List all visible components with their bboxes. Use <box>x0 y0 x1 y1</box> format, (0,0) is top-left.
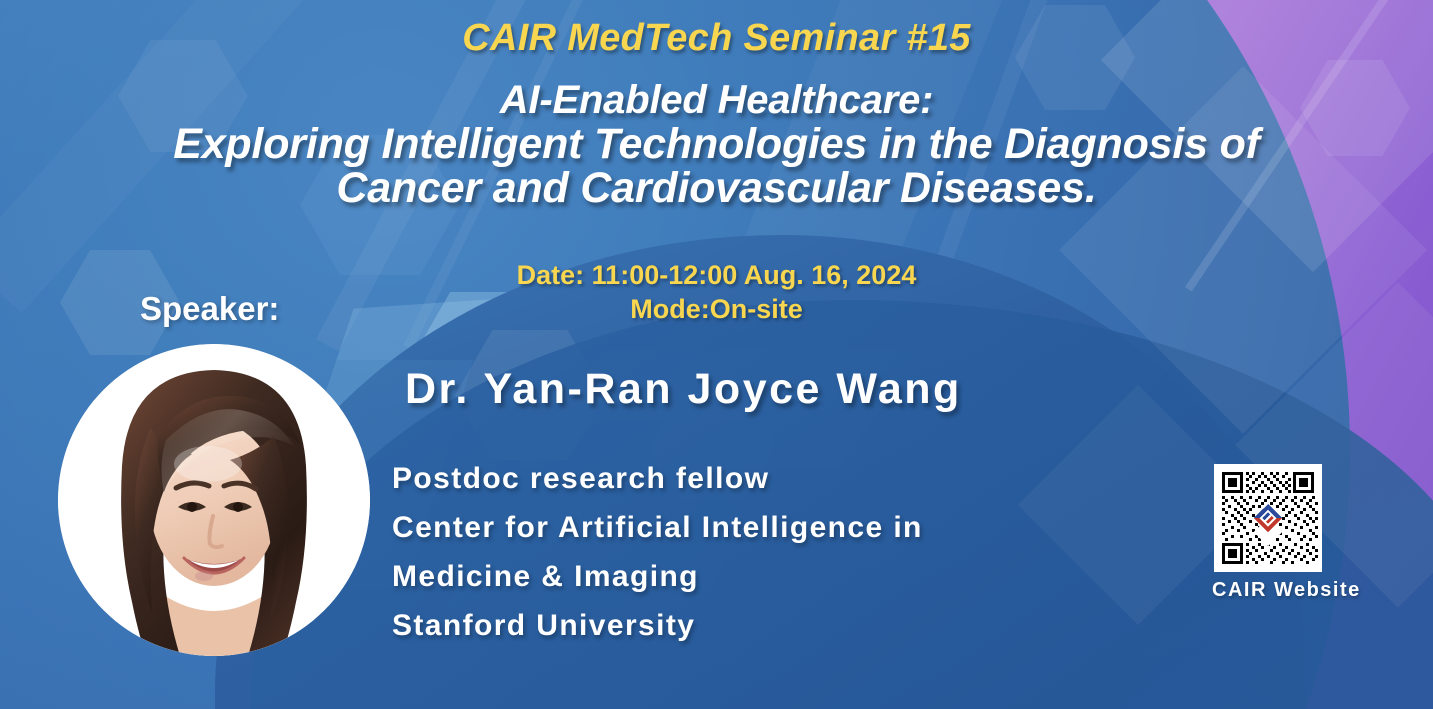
qr-code-caption: CAIR Website <box>1212 579 1324 602</box>
speaker-label: Speaker: <box>140 290 279 328</box>
title-line-2: Exploring Intelligent Technologies in th… <box>0 122 1433 167</box>
speaker-affiliation: Postdoc research fellow Center for Artif… <box>392 455 923 651</box>
qr-code-pattern <box>1214 464 1322 572</box>
page-title: AI-Enabled Healthcare: Exploring Intelli… <box>0 80 1433 211</box>
affiliation-line: Postdoc research fellow <box>392 455 923 504</box>
affiliation-line: Stanford University <box>392 602 923 651</box>
title-line-1: AI-Enabled Healthcare: <box>0 80 1433 122</box>
portrait-illustration <box>58 344 370 656</box>
seminar-series-heading: CAIR MedTech Seminar #15 <box>0 17 1433 60</box>
poster-content: CAIR MedTech Seminar #15 AI-Enabled Heal… <box>0 0 1433 709</box>
speaker-portrait-photo <box>58 344 370 656</box>
affiliation-line: Medicine & Imaging <box>392 553 923 602</box>
qr-code-icon[interactable] <box>1214 464 1322 572</box>
event-date: Date: 11:00-12:00 Aug. 16, 2024 <box>0 258 1433 292</box>
seminar-poster: CAIR MedTech Seminar #15 AI-Enabled Heal… <box>0 0 1433 709</box>
affiliation-line: Center for Artificial Intelligence in <box>392 504 923 553</box>
qr-code-block[interactable]: CAIR Website <box>1214 464 1324 602</box>
speaker-name: Dr. Yan-Ran Joyce Wang <box>405 365 962 414</box>
title-line-3: Cancer and Cardiovascular Diseases. <box>0 166 1433 211</box>
